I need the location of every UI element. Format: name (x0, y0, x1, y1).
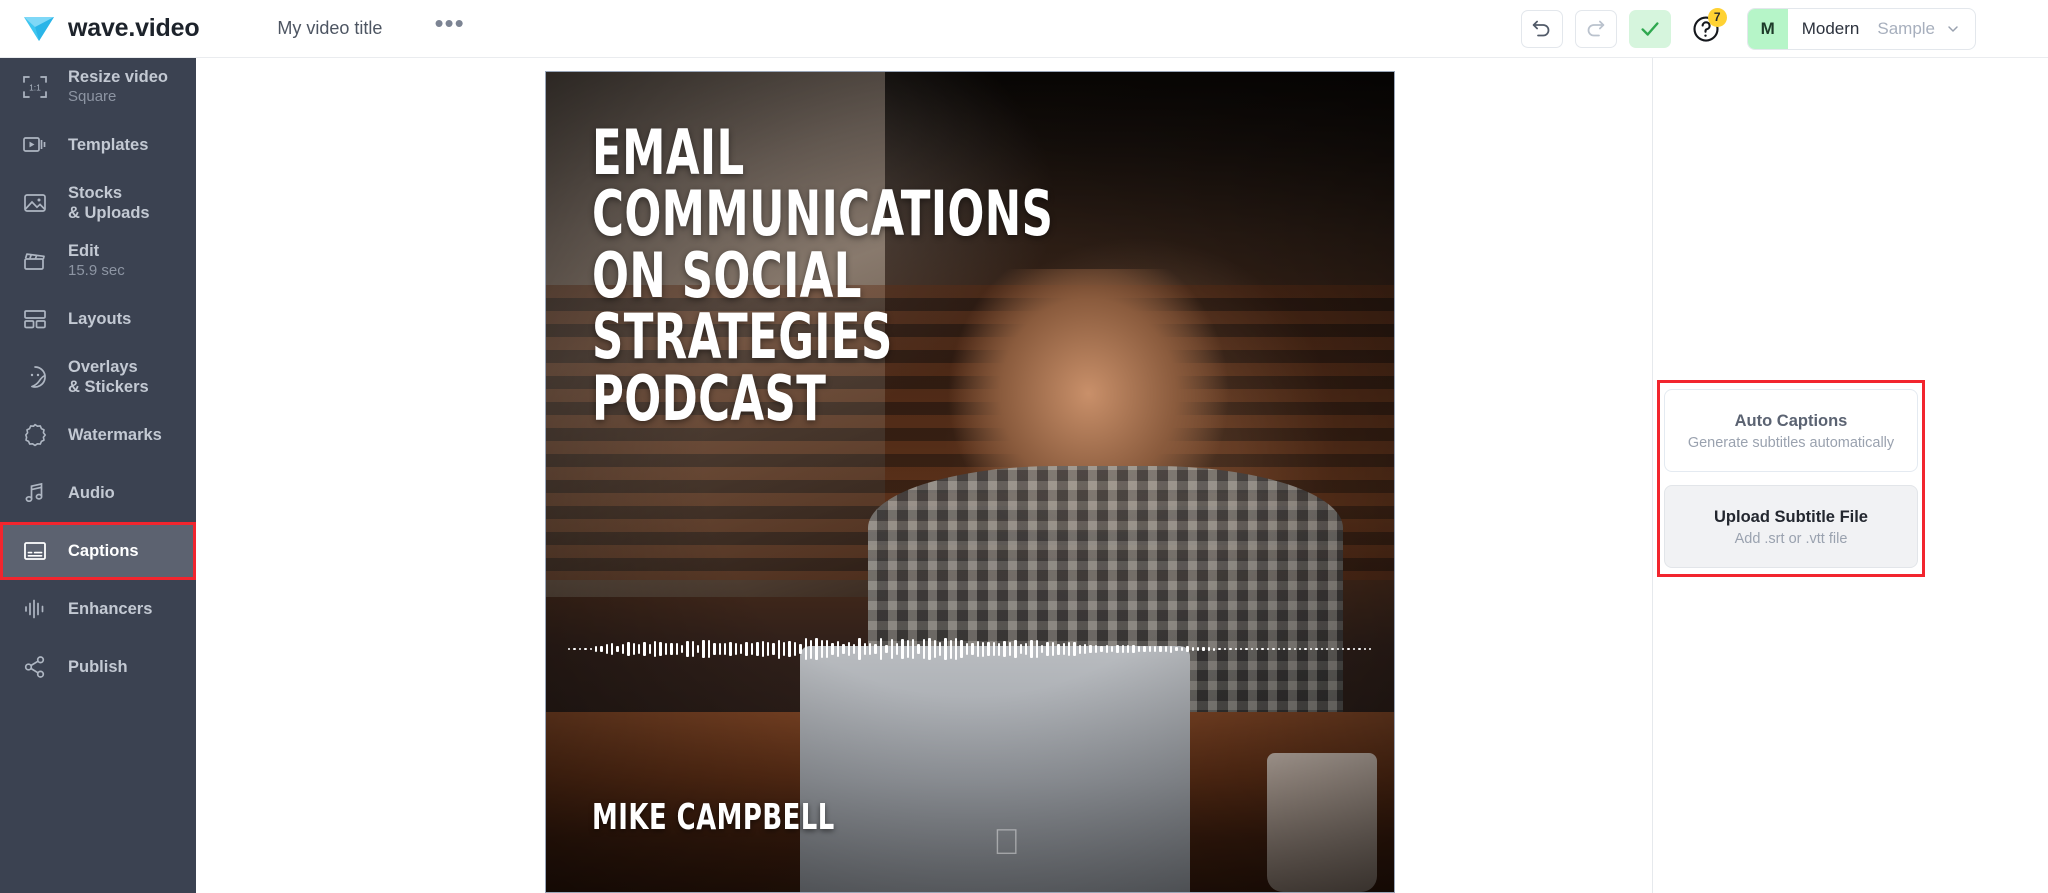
sidebar-item-label: Watermarks (68, 425, 162, 445)
waveform-bar (772, 643, 774, 655)
upload-subtitle-card[interactable]: Upload Subtitle File Add .srt or .vtt fi… (1664, 485, 1918, 568)
waveform-bar (1014, 640, 1016, 659)
upload-subtitle-subtitle: Add .srt or .vtt file (1675, 531, 1907, 547)
brand-kit-name: Modern (1788, 19, 1878, 39)
waveform-bar (579, 648, 581, 651)
waveform-bar (848, 642, 850, 655)
sidebar-item-label: Publish (68, 657, 128, 677)
waveform-bar (1181, 647, 1183, 652)
waveform-bar (891, 639, 893, 658)
share-icon (18, 650, 52, 684)
sidebar-item-label: Layouts (68, 309, 131, 329)
waveform-bar (627, 642, 629, 655)
waveform-bar (1052, 642, 1054, 657)
waveform-bar (950, 640, 952, 659)
sidebar-item-label: Edit (68, 241, 125, 261)
right-panel: Auto Captions Generate subtitles automat… (1652, 58, 2048, 893)
waveform-bar (1003, 641, 1005, 657)
waveform-bar (1175, 647, 1177, 652)
sidebar-item-label: Audio (68, 483, 115, 503)
chevron-down-icon (1945, 21, 1961, 37)
waveform-bar (837, 641, 839, 658)
waveform-bar (1020, 644, 1022, 654)
waveform-bar (831, 643, 833, 656)
waveform-bar (1299, 648, 1301, 651)
waveform-bar (939, 642, 941, 656)
sidebar-item-sublabel: 15.9 sec (68, 262, 125, 281)
waveform-bar (611, 643, 613, 654)
waveform-bar (1041, 645, 1043, 653)
waveform-bar (1106, 645, 1108, 653)
waveform-bar (1122, 645, 1124, 652)
waveform-bar (1030, 640, 1032, 657)
waveform-bar (1009, 642, 1011, 656)
waveform-bar (1288, 648, 1290, 651)
brand-logo-group[interactable]: wave.video (22, 14, 199, 44)
waveform-bar (987, 642, 989, 656)
brand-kit-sample-label: Sample (1877, 19, 1945, 39)
help-badge-count: 7 (1708, 8, 1727, 27)
sidebar-item-layouts[interactable]: Layouts (0, 290, 196, 348)
waveform-bar (1170, 646, 1172, 653)
waveform-bar (810, 640, 812, 659)
waveform-bar (1245, 648, 1247, 651)
waveform-bar (1272, 648, 1274, 651)
waveform-bar (1342, 648, 1344, 651)
sidebar-item-audio[interactable]: Audio (0, 464, 196, 522)
waveform-bar (638, 644, 640, 654)
sidebar-item-label: Enhancers (68, 599, 152, 619)
waveform-bar (595, 646, 597, 652)
check-icon (1639, 18, 1661, 40)
waveform-bar (686, 641, 688, 657)
waveform-bar (1267, 648, 1269, 651)
svg-text:1:1: 1:1 (29, 83, 41, 93)
wave-video-logo-icon (22, 14, 56, 44)
redo-icon (1585, 18, 1606, 39)
auto-captions-title: Auto Captions (1675, 412, 1907, 431)
upload-subtitle-title: Upload Subtitle File (1675, 508, 1907, 527)
badge-icon (18, 418, 52, 452)
waveform-bar (794, 642, 796, 656)
layouts-icon (18, 302, 52, 336)
waveform-bar (1159, 646, 1161, 653)
waveform-bar (1154, 646, 1156, 652)
waveform-bar (584, 648, 586, 651)
waveform-bar (1095, 645, 1097, 654)
sidebar-item-sublabel: Square (68, 88, 168, 107)
captions-options-group: Auto Captions Generate subtitles automat… (1657, 380, 1925, 577)
waveform-bar (1132, 645, 1134, 653)
waveform-bar (568, 648, 570, 651)
waveform-bar (1321, 648, 1323, 651)
waveform-bar (971, 643, 973, 655)
clapperboard-icon (18, 244, 52, 278)
waveform-bar (767, 642, 769, 656)
waveform-bar (1256, 648, 1258, 651)
waveform-bar (1208, 647, 1210, 650)
waveform-bar (869, 643, 871, 655)
waveform-bar (1036, 640, 1038, 657)
music-note-icon (18, 476, 52, 510)
waveform-bar (643, 642, 645, 656)
waveform-bar (1353, 648, 1355, 651)
waveform-bar (681, 645, 683, 653)
waveform-bar (805, 638, 807, 660)
waveform-icon (18, 592, 52, 626)
waveform-bar (590, 648, 592, 651)
waveform-bar (697, 645, 699, 652)
waveform-bar (735, 643, 737, 655)
waveform-bar (1358, 648, 1360, 651)
sidebar-item-label: Captions (68, 541, 139, 561)
document-title[interactable]: My video title (277, 18, 382, 39)
waveform-bar (708, 640, 710, 657)
waveform-bar (1213, 648, 1215, 651)
sticker-icon (18, 360, 52, 394)
waveform-bar (1143, 646, 1145, 652)
waveform-bar (815, 638, 817, 660)
waveform-bar (740, 644, 742, 654)
waveform-bar (1283, 648, 1285, 651)
waveform-bar (1235, 648, 1237, 651)
waveform-bar (874, 644, 876, 654)
waveform-bar (1165, 646, 1167, 652)
waveform-bar (756, 642, 758, 657)
top-bar-actions: 7 M Modern Sample (1521, 8, 1976, 50)
waveform-bar (1369, 648, 1371, 651)
sidebar-item-publish[interactable]: Publish (0, 638, 196, 696)
waveform-bar (1084, 644, 1086, 655)
waveform-bar (649, 644, 651, 654)
waveform-bar (751, 643, 753, 656)
waveform-bar (982, 642, 984, 657)
waveform-bar (1310, 648, 1312, 651)
waveform-bar (1073, 642, 1075, 655)
waveform-bar (993, 642, 995, 656)
brand-name: wave.video (68, 14, 199, 43)
waveform-bar (1304, 648, 1306, 651)
brand-kit-avatar: M (1748, 9, 1788, 49)
waveform-bar (1192, 647, 1194, 651)
waveform-bar (622, 644, 624, 653)
waveform-bar (1251, 648, 1253, 651)
video-canvas[interactable]:  Email Communications on Social Strateg… (545, 71, 1395, 893)
waveform-bar (1240, 648, 1242, 651)
sidebar-item-label: Stocks & Uploads (68, 183, 150, 224)
waveform-bar (1068, 642, 1070, 656)
waveform-bar (966, 643, 968, 654)
waveform-bar (573, 648, 575, 651)
sidebar-item-captions[interactable]: Captions (0, 522, 196, 580)
waveform-bar (944, 638, 946, 660)
image-icon (18, 186, 52, 220)
waveform-bar (1331, 648, 1333, 651)
waveform-bar (842, 644, 844, 653)
waveform-bar (659, 642, 661, 655)
waveform-bar (692, 641, 694, 656)
sidebar: 1:1 Resize video Square Templates (0, 58, 196, 893)
waveform-bar (864, 643, 866, 656)
waveform-bar (783, 642, 785, 656)
waveform-bar (1224, 648, 1226, 651)
audio-waveform[interactable] (568, 632, 1372, 666)
waveform-bar (1127, 645, 1129, 654)
waveform-bar (1218, 648, 1220, 651)
sidebar-item-watermarks[interactable]: Watermarks (0, 406, 196, 464)
waveform-bar (745, 642, 747, 655)
waveform-bar (1364, 648, 1366, 651)
document-menu-button[interactable]: ••• (434, 18, 464, 40)
waveform-bar (960, 640, 962, 657)
waveform-bar (858, 638, 860, 660)
redo-button[interactable] (1575, 10, 1617, 48)
waveform-bar (1138, 646, 1140, 653)
waveform-bar (702, 640, 704, 658)
waveform-bar (923, 639, 925, 660)
waveform-bar (1229, 648, 1231, 651)
auto-captions-subtitle: Generate subtitles automatically (1675, 435, 1907, 451)
sidebar-item-edit[interactable]: Edit 15.9 sec (0, 232, 196, 290)
waveform-bar (719, 643, 721, 656)
undo-icon (1531, 18, 1552, 39)
waveform-bar (1057, 644, 1059, 655)
sidebar-item-label: Templates (68, 135, 148, 155)
sidebar-item-label: Overlays & Stickers (68, 357, 149, 398)
captions-icon (18, 534, 52, 568)
waveform-bar (955, 638, 957, 659)
waveform-bar (826, 640, 828, 658)
waveform-bar (912, 639, 914, 658)
waveform-bar (901, 639, 903, 660)
undo-button[interactable] (1521, 10, 1563, 48)
waveform-bar (665, 643, 667, 655)
waveform-bar (654, 641, 656, 656)
waveform-bar (788, 641, 790, 657)
waveform-bar (1197, 647, 1199, 651)
waveform-bar (1046, 642, 1048, 657)
resize-icon: 1:1 (18, 70, 52, 104)
waveform-bar (676, 643, 678, 656)
waveform-bar (778, 640, 780, 659)
waveform-bar (1063, 643, 1065, 655)
waveform-bar (616, 646, 618, 652)
waveform-bar (1149, 646, 1151, 652)
sidebar-item-templates[interactable]: Templates (0, 116, 196, 174)
waveform-bar (670, 643, 672, 655)
waveform-bar (1186, 646, 1188, 651)
top-bar: wave.video My video title ••• (0, 0, 2048, 58)
help-button[interactable]: 7 (1683, 8, 1729, 50)
waveform-bar (1294, 648, 1296, 651)
waveform-bar (896, 643, 898, 654)
waveform-bar (633, 643, 635, 655)
confirm-button[interactable] (1629, 10, 1671, 48)
templates-icon (18, 128, 52, 162)
waveform-bar (977, 641, 979, 657)
waveform-bar (928, 638, 930, 659)
waveform-bar (907, 640, 909, 657)
sidebar-item-resize-video[interactable]: 1:1 Resize video Square (0, 58, 196, 116)
waveform-bar (917, 644, 919, 654)
waveform-bar (1111, 646, 1113, 652)
waveform-bar (1116, 645, 1118, 653)
waveform-bar (606, 644, 608, 654)
app-root: wave.video My video title ••• (0, 0, 2048, 893)
waveform-bar (600, 646, 602, 652)
waveform-bar (1100, 646, 1102, 652)
waveform-bar (729, 642, 731, 657)
auto-captions-card[interactable]: Auto Captions Generate subtitles automat… (1664, 389, 1918, 472)
waveform-bar (821, 640, 823, 659)
waveform-bar (853, 644, 855, 655)
sidebar-item-label: Resize video (68, 67, 168, 87)
waveform-bar (1326, 648, 1328, 651)
sidebar-item-stocks-uploads[interactable]: Stocks & Uploads (0, 174, 196, 232)
sidebar-item-overlays-stickers[interactable]: Overlays & Stickers (0, 348, 196, 406)
waveform-bar (880, 638, 882, 660)
canvas-title-text[interactable]: Email Communications on Social Strategie… (592, 122, 1081, 429)
canvas-presenter-text[interactable]: Mike Campbell (592, 797, 835, 838)
waveform-bar (1261, 648, 1263, 651)
waveform-bar (998, 643, 1000, 656)
waveform-bar (1025, 643, 1027, 655)
waveform-bar (1337, 648, 1339, 651)
waveform-bar (1278, 648, 1280, 651)
waveform-bar (1079, 645, 1081, 654)
waveform-bar (799, 644, 801, 654)
canvas-stage:  Email Communications on Social Strateg… (196, 58, 1652, 893)
waveform-bar (885, 645, 887, 654)
waveform-bar (1347, 648, 1349, 651)
waveform-bar (1202, 647, 1204, 651)
waveform-bar (1315, 648, 1317, 651)
waveform-bar (1089, 645, 1091, 653)
waveform-bar (762, 641, 764, 656)
sidebar-item-enhancers[interactable]: Enhancers (0, 580, 196, 638)
waveform-bar (713, 643, 715, 655)
brand-kit-selector[interactable]: M Modern Sample (1747, 8, 1976, 50)
waveform-bar (934, 640, 936, 658)
waveform-bar (724, 643, 726, 656)
